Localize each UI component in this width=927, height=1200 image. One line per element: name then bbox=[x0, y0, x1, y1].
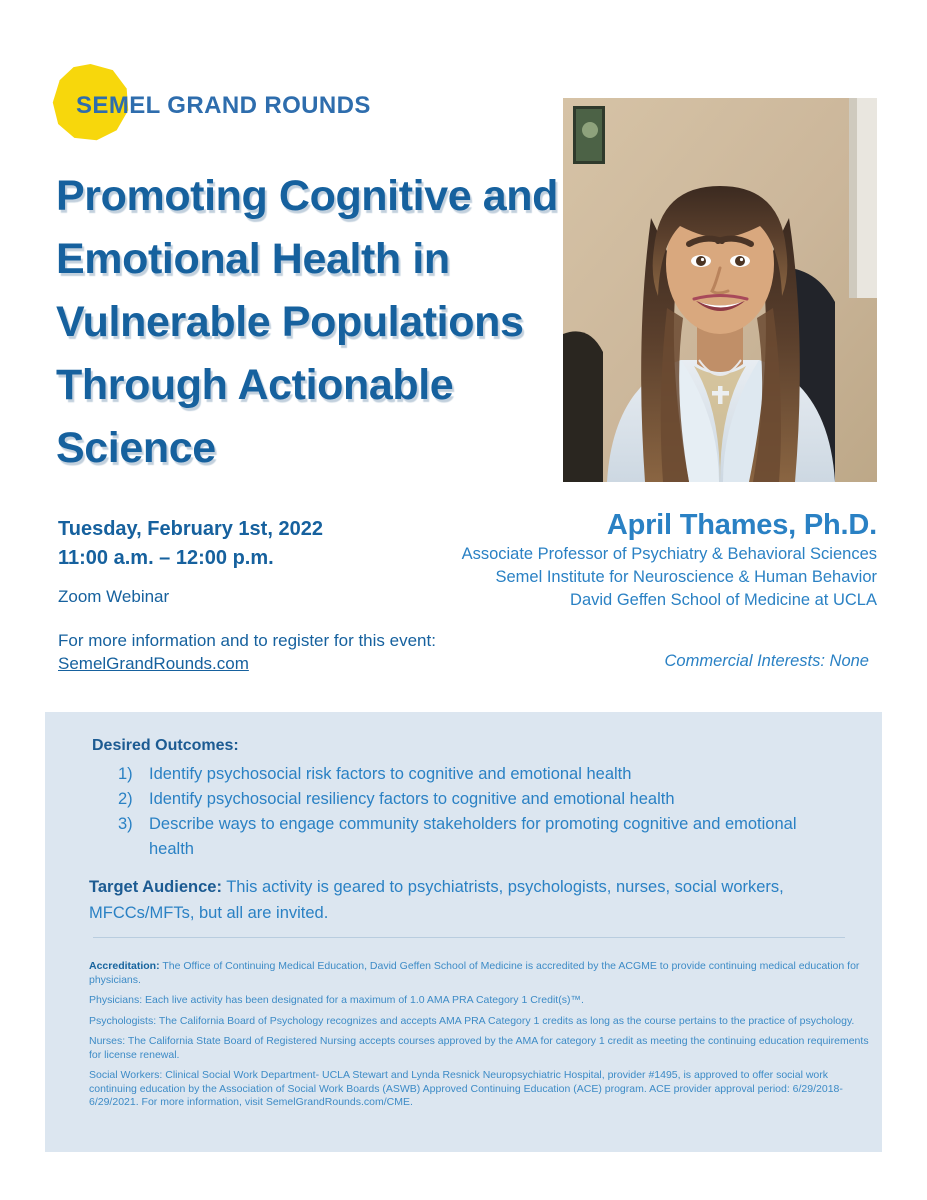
outcome-number: 2) bbox=[118, 787, 149, 812]
outcome-number: 1) bbox=[118, 762, 149, 787]
outcome-item: 3) Describe ways to engage community sta… bbox=[118, 812, 839, 862]
speaker-portrait-photo bbox=[563, 98, 877, 482]
outcome-item: 2) Identify psychosocial resiliency fact… bbox=[118, 787, 839, 812]
page-title: Promoting Cognitive and Emotional Health… bbox=[56, 165, 566, 480]
section-divider bbox=[93, 937, 845, 938]
series-kicker: SEMEL GRAND ROUNDS bbox=[76, 92, 371, 120]
social-workers-paragraph: Social Workers: Clinical Social Work Dep… bbox=[89, 1069, 871, 1110]
outcome-text: Identify psychosocial resiliency factors… bbox=[149, 787, 839, 812]
psychologists-paragraph: Psychologists: The California Board of P… bbox=[89, 1015, 871, 1029]
event-date-line: Tuesday, February 1st, 2022 bbox=[58, 515, 323, 544]
details-panel: Desired Outcomes: 1) Identify psychosoci… bbox=[45, 712, 882, 1152]
speaker-name: April Thames, Ph.D. bbox=[427, 507, 877, 543]
speaker-affiliation-2: Semel Institute for Neuroscience & Human… bbox=[427, 566, 877, 589]
speaker-affiliation-3: David Geffen School of Medicine at UCLA bbox=[427, 589, 877, 612]
outcome-text: Identify psychosocial risk factors to co… bbox=[149, 762, 839, 787]
event-registration-note: For more information and to register for… bbox=[58, 627, 436, 655]
speaker-affiliation-1: Associate Professor of Psychiatry & Beha… bbox=[427, 543, 877, 566]
event-venue: Zoom Webinar bbox=[58, 587, 169, 607]
outcome-text: Describe ways to engage community stakeh… bbox=[149, 812, 839, 862]
accreditation-label: Accreditation: bbox=[89, 960, 160, 972]
accreditation-section: Accreditation: The Office of Continuing … bbox=[89, 960, 871, 1117]
nurses-paragraph: Nurses: The California State Board of Re… bbox=[89, 1035, 871, 1062]
commercial-interests: Commercial Interests: None bbox=[665, 652, 870, 671]
outcomes-heading: Desired Outcomes: bbox=[92, 737, 239, 755]
event-time-line: 11:00 a.m. – 12:00 p.m. bbox=[58, 544, 323, 573]
speaker-details: April Thames, Ph.D. Associate Professor … bbox=[427, 507, 877, 612]
accreditation-text: The Office of Continuing Medical Educati… bbox=[89, 960, 859, 986]
physicians-paragraph: Physicians: Each live activity has been … bbox=[89, 994, 871, 1008]
outcome-item: 1) Identify psychosocial risk factors to… bbox=[118, 762, 839, 787]
event-datetime: Tuesday, February 1st, 2022 11:00 a.m. –… bbox=[58, 515, 323, 573]
target-audience: Target Audience: This activity is geared… bbox=[89, 874, 809, 926]
accreditation-paragraph: Accreditation: The Office of Continuing … bbox=[89, 960, 871, 987]
target-audience-label: Target Audience: bbox=[89, 878, 222, 896]
outcome-number: 3) bbox=[118, 812, 149, 862]
registration-link[interactable]: SemelGrandRounds.com bbox=[58, 654, 249, 674]
poster-flyer: SEMEL GRAND ROUNDS Promoting Cognitive a… bbox=[0, 0, 927, 1200]
